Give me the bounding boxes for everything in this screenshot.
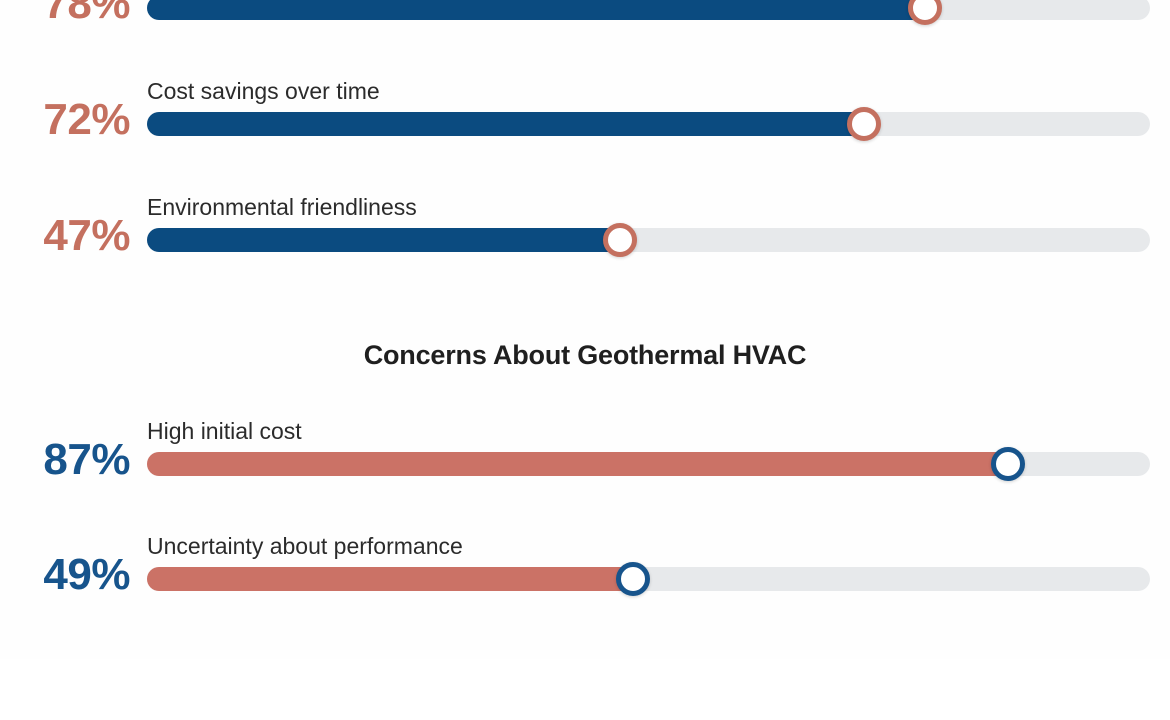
slider-row[interactable]: 78% bbox=[0, 0, 1170, 34]
slider-value: 47% bbox=[0, 214, 130, 258]
slider-fill bbox=[147, 112, 864, 136]
slider-track[interactable] bbox=[147, 452, 1150, 476]
slider-knob[interactable] bbox=[616, 562, 650, 596]
slider-fill bbox=[147, 0, 925, 20]
slider-fill bbox=[147, 452, 1008, 476]
slider-row[interactable]: 47% Environmental friendliness bbox=[0, 170, 1170, 266]
slider-label: Uncertainty about performance bbox=[147, 534, 463, 559]
slider-track[interactable] bbox=[147, 228, 1150, 252]
slider-label: Cost savings over time bbox=[147, 79, 380, 104]
geothermal-hvac-infographic: 78% 72% Cost savings over time 47% Envir… bbox=[0, 0, 1170, 659]
slider-value: 78% bbox=[0, 0, 130, 26]
slider-label: Environmental friendliness bbox=[147, 195, 417, 220]
slider-value: 49% bbox=[0, 553, 130, 597]
slider-track[interactable] bbox=[147, 112, 1150, 136]
slider-knob[interactable] bbox=[847, 107, 881, 141]
slider-row[interactable]: 49% Uncertainty about performance bbox=[0, 509, 1170, 605]
slider-label: High initial cost bbox=[147, 419, 302, 444]
slider-fill bbox=[147, 567, 633, 591]
slider-row[interactable]: 72% Cost savings over time bbox=[0, 54, 1170, 150]
slider-row[interactable] bbox=[0, 624, 1170, 720]
slider-row[interactable]: 87% High initial cost bbox=[0, 394, 1170, 490]
slider-track[interactable] bbox=[147, 0, 1150, 20]
slider-track[interactable] bbox=[147, 567, 1150, 591]
slider-knob[interactable] bbox=[908, 0, 942, 25]
slider-value: 72% bbox=[0, 98, 130, 142]
section-title-concerns: Concerns About Geothermal HVAC bbox=[0, 340, 1170, 371]
slider-fill bbox=[147, 228, 620, 252]
slider-knob[interactable] bbox=[991, 447, 1025, 481]
slider-value: 87% bbox=[0, 438, 130, 482]
slider-knob[interactable] bbox=[603, 223, 637, 257]
